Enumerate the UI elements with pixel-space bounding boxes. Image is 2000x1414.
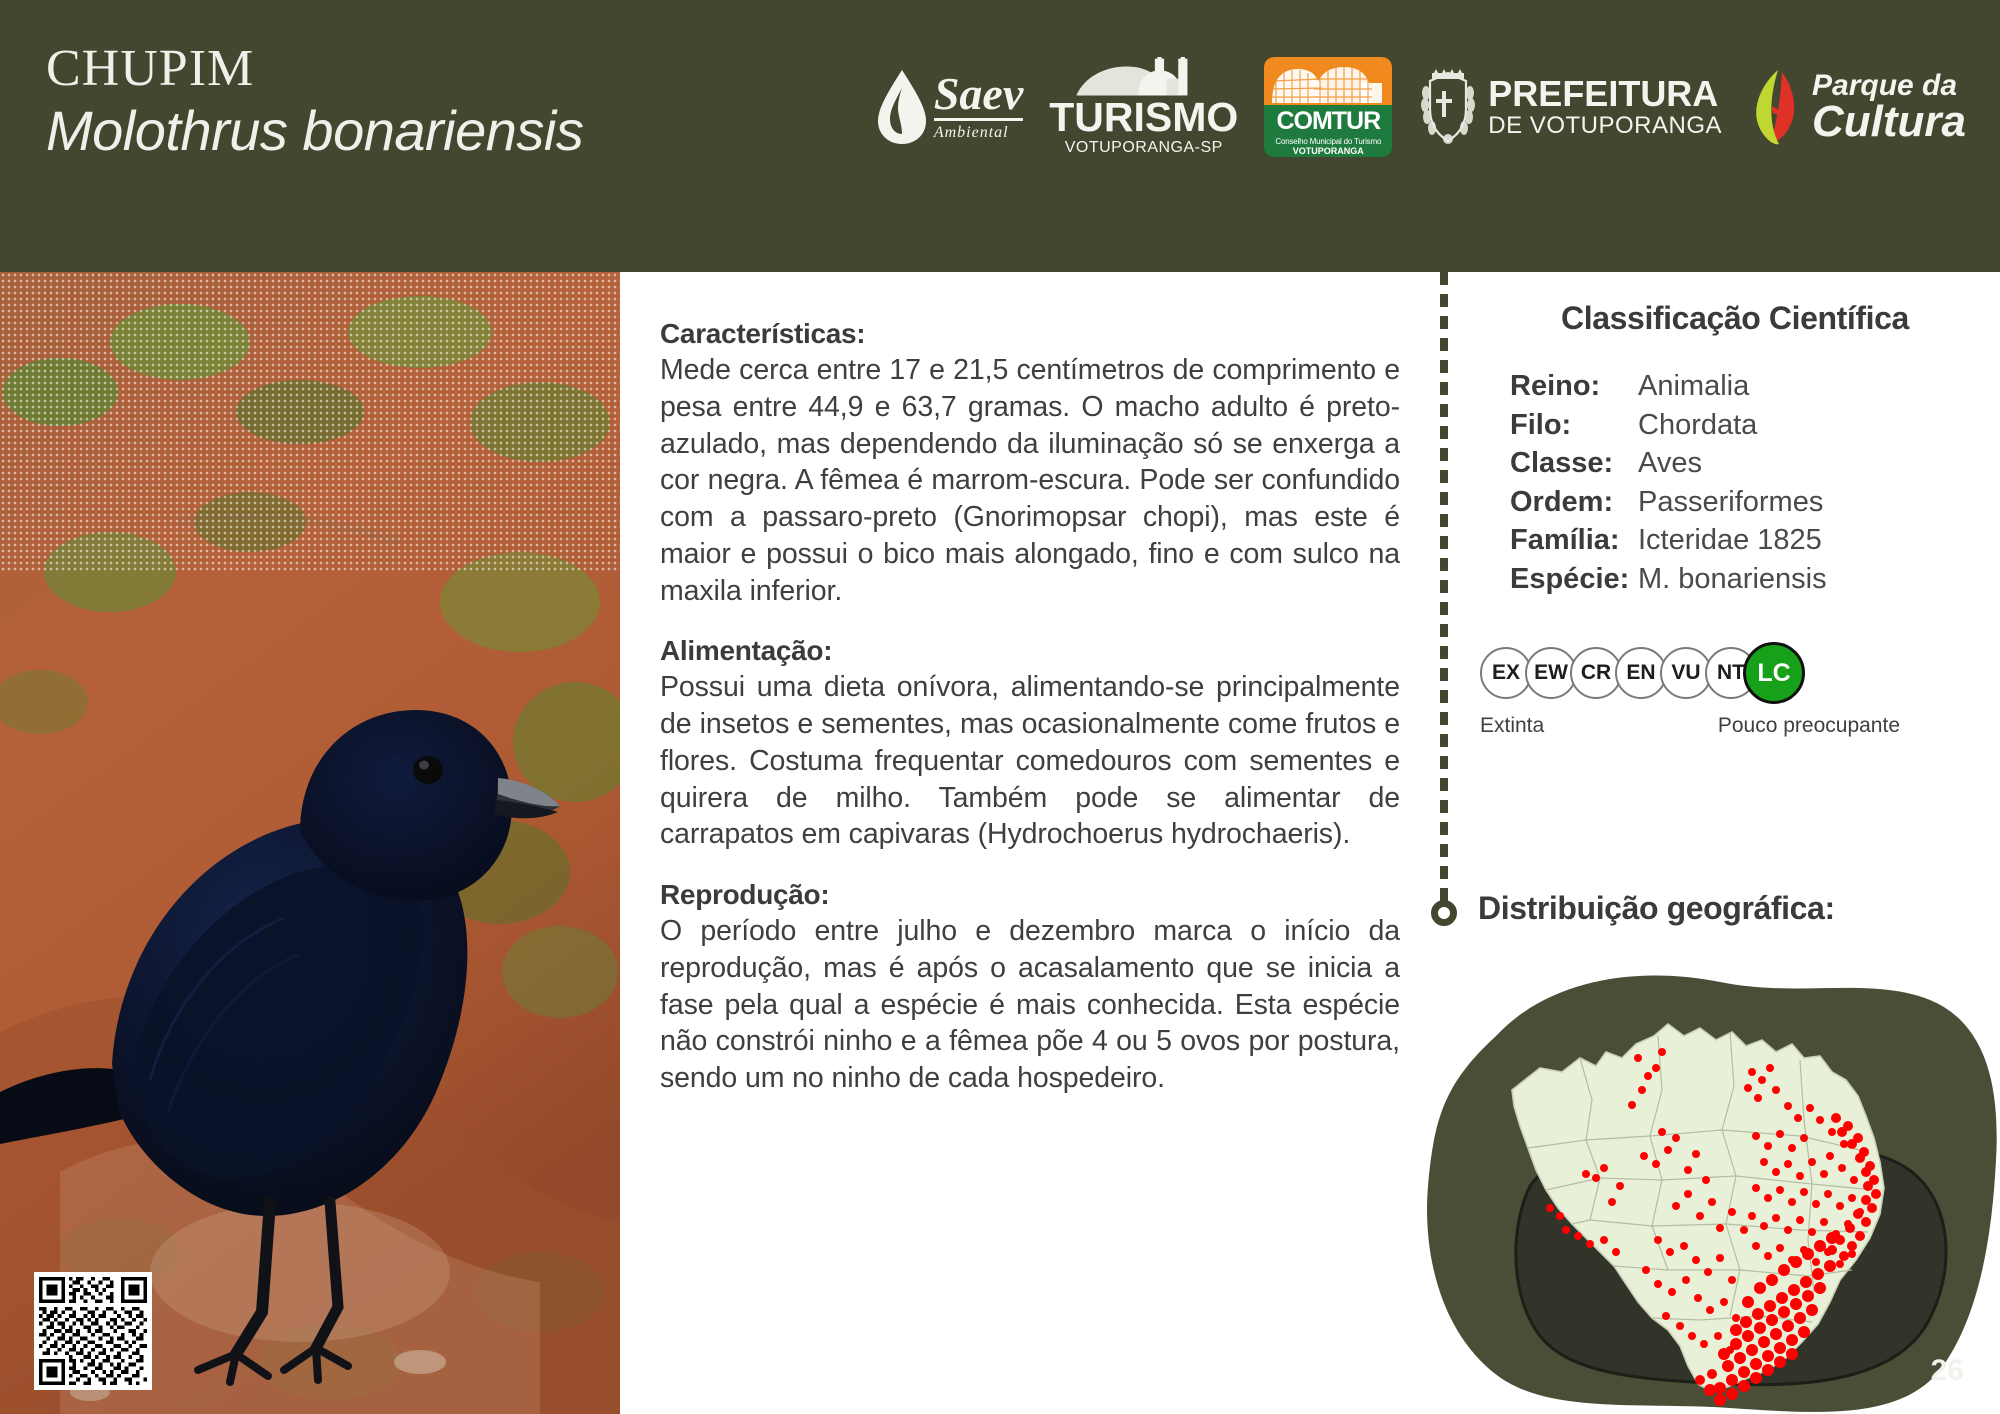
church-icon (1059, 57, 1229, 97)
status-label-left: Extinta (1480, 714, 1544, 738)
pavilion-icon (1264, 57, 1392, 105)
prefeitura-city: DE VOTUPORANGA (1488, 114, 1722, 138)
taxonomy-list: Reino: Animalia Filo: Chordata Classe: A… (1510, 367, 2000, 598)
status-scale-labels: Extinta Pouco preocupante (1480, 714, 1900, 738)
section-caracteristicas: Características: Mede cerca entre 17 e 2… (660, 318, 1400, 609)
taxonomy-value: Animalia (1638, 367, 1749, 406)
section-reproducao: Reprodução: O período entre julho e deze… (660, 879, 1400, 1097)
distribution-map (1400, 940, 2000, 1414)
comtur-city: VOTUPORANGA (1264, 146, 1392, 156)
taxonomy-key: Ordem: (1510, 483, 1638, 522)
prefeitura-logo: PREFEITURA DE VOTUPORANGA (1418, 57, 1722, 157)
section-body: Possui uma dieta onívora, alimentando-se… (660, 669, 1400, 853)
status-badge-lc[interactable]: LC (1743, 642, 1805, 704)
parque-line1: Parque da (1812, 71, 1966, 100)
qr-code[interactable] (34, 1272, 152, 1390)
scientific-name: Molothrus bonariensis (46, 99, 583, 163)
page-number: 26 (1931, 1354, 1964, 1388)
brazil-occurrence-map (1400, 940, 2000, 1414)
comtur-tagline: Conselho Municipal do Turismo (1264, 137, 1392, 146)
coat-of-arms-icon (1418, 69, 1478, 145)
page-header: CHUPIM Molothrus bonariensis Saev Ambien… (0, 0, 2000, 272)
status-label-right: Pouco preocupante (1718, 714, 1900, 738)
taxonomy-row: Filo: Chordata (1510, 406, 2000, 445)
saev-tagline: Ambiental (934, 124, 1009, 142)
taxonomy-key: Espécie: (1510, 560, 1638, 599)
prefeitura-wordmark: PREFEITURA DE VOTUPORANGA (1488, 76, 1722, 138)
taxonomy-row: Classe: Aves (1510, 444, 2000, 483)
turismo-logo: TURISMO VOTUPORANGA-SP (1049, 57, 1238, 157)
taxonomy-key: Família: (1510, 521, 1638, 560)
taxonomy-value: Chordata (1638, 406, 1757, 445)
saev-wordmark: Saev Ambiental (934, 72, 1023, 142)
section-body: O período entre julho e dezembro marca o… (660, 913, 1400, 1097)
parque-wordmark: Parque da Cultura (1812, 71, 1966, 144)
taxonomy-value: Icteridae 1825 (1638, 521, 1822, 560)
bird-photo-illustration (0, 272, 620, 1414)
turismo-name: TURISMO (1049, 99, 1238, 136)
title-block: CHUPIM Molothrus bonariensis (46, 42, 583, 163)
qr-code-icon (39, 1277, 147, 1385)
leaf-icon (1748, 66, 1802, 148)
taxonomy-key: Classe: (1510, 444, 1638, 483)
taxonomy-value: Passeriformes (1638, 483, 1823, 522)
distribution-title: Distribuição geográfica: (1478, 890, 1835, 927)
section-heading: Características: (660, 318, 1400, 350)
species-description: Características: Mede cerca entre 17 e 2… (660, 318, 1400, 1097)
water-drop-icon (876, 68, 928, 146)
dashed-divider (1440, 272, 1448, 912)
saev-logo: Saev Ambiental (876, 57, 1023, 157)
taxonomy-value: M. bonariensis (1638, 560, 1827, 599)
taxonomy-row: Ordem: Passeriformes (1510, 483, 2000, 522)
taxonomy-key: Filo: (1510, 406, 1638, 445)
species-fact-sheet-page: CHUPIM Molothrus bonariensis Saev Ambien… (0, 0, 2000, 1414)
logo-strip: Saev Ambiental TURISMO VOTUPORANGA-SP (876, 52, 1966, 162)
taxonomy-row: Família: Icteridae 1825 (1510, 521, 2000, 560)
comtur-name: COMTUR (1276, 107, 1380, 136)
section-heading: Alimentação: (660, 635, 1400, 667)
taxonomy-row: Reino: Animalia (1510, 367, 2000, 406)
comtur-tagline-block: Conselho Municipal do Turismo VOTUPORANG… (1264, 137, 1392, 157)
parque-line2: Cultura (1812, 100, 1966, 143)
prefeitura-name: PREFEITURA (1488, 76, 1722, 112)
page-title: CHUPIM (46, 42, 583, 97)
saev-name: Saev (934, 72, 1023, 121)
section-heading: Reprodução: (660, 879, 1400, 911)
parque-cultura-logo: Parque da Cultura (1748, 57, 1966, 157)
comtur-badge: COMTUR Conselho Municipal do Turismo VOT… (1264, 57, 1392, 157)
comtur-wordmark: COMTUR (1264, 105, 1392, 137)
comtur-logo: COMTUR Conselho Municipal do Turismo VOT… (1264, 57, 1392, 157)
species-photo (0, 272, 620, 1414)
taxonomy-value: Aves (1638, 444, 1702, 483)
classification-panel: Classificação Científica Reino: Animalia… (1470, 300, 2000, 738)
classification-title: Classificação Científica (1470, 300, 2000, 337)
conservation-status-scale: EX EW CR EN VU NT LC (1480, 642, 2000, 704)
section-alimentacao: Alimentação: Possui uma dieta onívora, a… (660, 635, 1400, 853)
taxonomy-row: Espécie: M. bonariensis (1510, 560, 2000, 599)
taxonomy-key: Reino: (1510, 367, 1638, 406)
divider-end-dot-icon (1431, 900, 1457, 926)
section-body: Mede cerca entre 17 e 21,5 centímetros d… (660, 352, 1400, 609)
turismo-city: VOTUPORANGA-SP (1065, 139, 1223, 157)
